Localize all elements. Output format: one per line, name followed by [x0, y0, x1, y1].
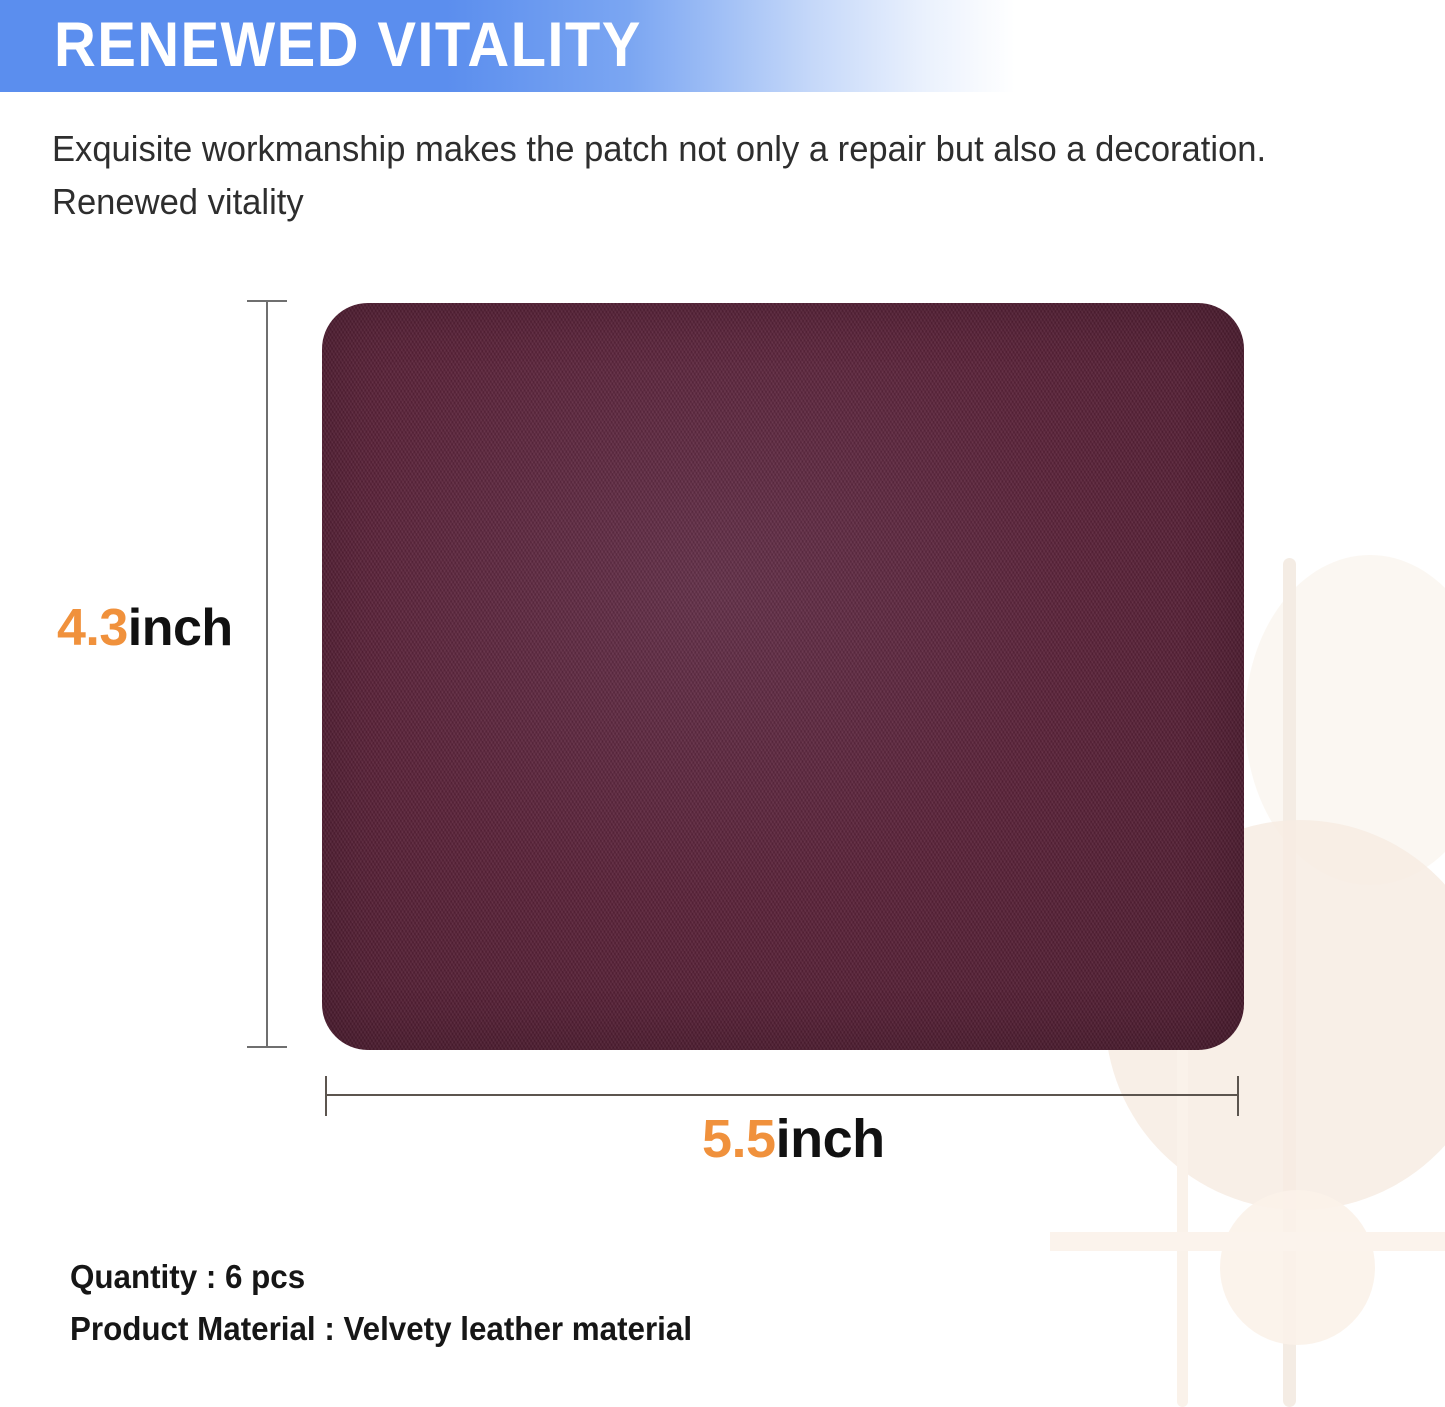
- height-dimension-cap-top: [247, 300, 287, 302]
- width-dimension-line: [326, 1094, 1238, 1096]
- decorative-circle-small: [1220, 1190, 1375, 1345]
- decorative-circle-faint: [1245, 555, 1445, 885]
- decorative-vertical-line-a: [1283, 558, 1296, 1407]
- height-label: 4.3inch: [57, 598, 233, 658]
- banner-title: RENEWED VITALITY: [54, 9, 642, 81]
- width-label: 5.5inch: [702, 1108, 885, 1170]
- spec-quantity: Quantity : 6 pcs: [70, 1251, 692, 1303]
- subtitle-line-2: Renewed vitality: [52, 175, 1377, 228]
- leather-patch-product: [322, 303, 1244, 1050]
- decorative-horizontal-line: [1050, 1232, 1445, 1251]
- subtitle-text: Exquisite workmanship makes the patch no…: [52, 122, 1377, 228]
- specification-list: Quantity : 6 pcs Product Material : Velv…: [70, 1251, 692, 1355]
- width-dimension-cap-left: [325, 1076, 327, 1116]
- height-value: 4.3: [57, 599, 128, 657]
- height-dimension-line: [266, 300, 268, 1048]
- product-infographic: RENEWED VITALITY Exquisite workmanship m…: [0, 0, 1445, 1407]
- height-unit: inch: [128, 599, 233, 657]
- width-dimension-cap-right: [1237, 1076, 1239, 1116]
- height-dimension-cap-bottom: [247, 1046, 287, 1048]
- width-unit: inch: [776, 1109, 885, 1169]
- spec-material: Product Material : Velvety leather mater…: [70, 1303, 692, 1355]
- width-value: 5.5: [702, 1109, 776, 1169]
- subtitle-line-1: Exquisite workmanship makes the patch no…: [52, 122, 1377, 175]
